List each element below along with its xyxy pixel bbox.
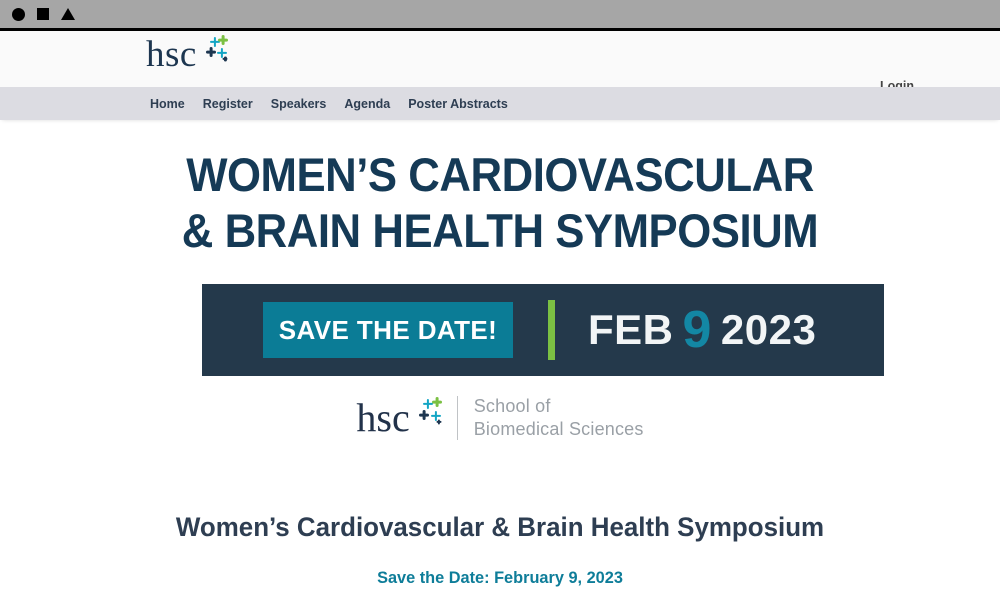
nav-item-speakers[interactable]: Speakers bbox=[271, 97, 345, 111]
hero-title-line-2: & BRAIN HEALTH SYMPOSIUM bbox=[35, 203, 965, 259]
school-logo-name-line-2: Biomedical Sciences bbox=[474, 418, 644, 441]
save-the-date-label: SAVE THE DATE! bbox=[279, 315, 497, 346]
event-date: FEB 9 2023 bbox=[588, 304, 816, 356]
nav-item-home[interactable]: Home bbox=[146, 97, 203, 111]
save-the-date-badge: SAVE THE DATE! bbox=[263, 302, 513, 358]
header-logo-text: hsc bbox=[146, 33, 197, 77]
nav-item-register[interactable]: Register bbox=[203, 97, 271, 111]
hero-banner: WOMEN’S CARDIOVASCULAR & BRAIN HEALTH SY… bbox=[0, 120, 1000, 259]
school-logo-lockup: hsc School of Biomedical Sciences bbox=[0, 395, 1000, 441]
site-header: hsc Login bbox=[0, 31, 1000, 87]
event-date-month: FEB bbox=[588, 306, 674, 354]
hsc-sparkle-icon bbox=[198, 35, 228, 75]
hero-title-line-1: WOMEN’S CARDIOVASCULAR bbox=[35, 147, 965, 203]
banner-divider bbox=[548, 300, 555, 360]
save-the-date-banner: SAVE THE DATE! FEB 9 2023 bbox=[202, 284, 884, 376]
school-logo-mark: hsc bbox=[356, 395, 440, 441]
school-logo-name-line-1: School of bbox=[474, 395, 644, 418]
event-date-year: 2023 bbox=[721, 306, 816, 354]
hsc-sparkle-icon bbox=[411, 397, 441, 437]
nav-item-poster-abstracts[interactable]: Poster Abstracts bbox=[408, 97, 526, 111]
window-chrome-bar bbox=[0, 0, 1000, 28]
square-control-icon[interactable] bbox=[37, 8, 49, 20]
nav-item-agenda[interactable]: Agenda bbox=[344, 97, 408, 111]
main-navigation: Home Register Speakers Agenda Poster Abs… bbox=[0, 87, 1000, 120]
event-date-day: 9 bbox=[683, 304, 712, 356]
school-logo-name: School of Biomedical Sciences bbox=[474, 395, 644, 441]
triangle-control-icon[interactable] bbox=[61, 8, 75, 20]
header-logo[interactable]: hsc bbox=[146, 33, 228, 77]
page-subtitle: Save the Date: February 9, 2023 bbox=[20, 568, 980, 588]
page-title: Women’s Cardiovascular & Brain Health Sy… bbox=[20, 512, 980, 543]
school-logo-divider bbox=[457, 396, 458, 440]
circle-control-icon[interactable] bbox=[12, 8, 25, 21]
hero-title: WOMEN’S CARDIOVASCULAR & BRAIN HEALTH SY… bbox=[35, 147, 965, 259]
school-logo-text: hsc bbox=[356, 395, 409, 441]
